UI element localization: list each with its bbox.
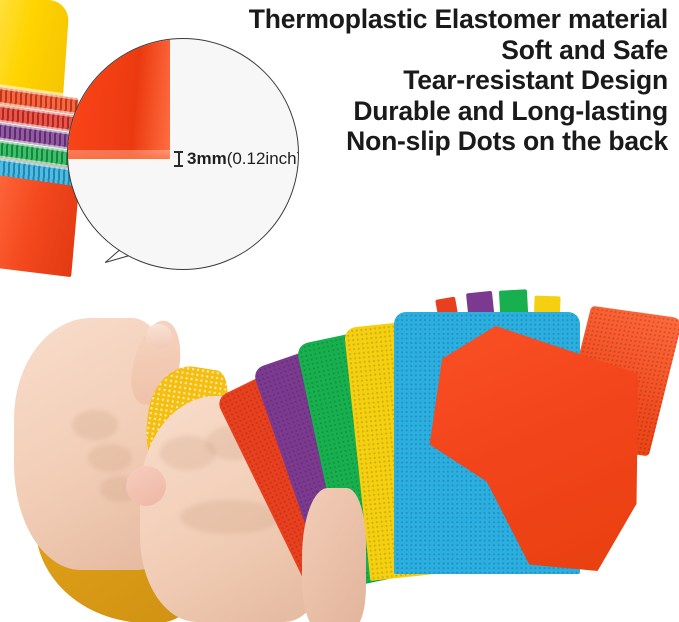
knuckle [88,444,132,472]
feature-line-3: Tear-resistant Design [190,65,668,96]
product-feature-image: 3mm(0.12inch) Thermoplastic Elastomer ma… [0,0,679,622]
feature-line-5: Non-slip Dots on the back [190,126,668,157]
knuckle [72,410,118,440]
feature-line-1: Thermoplastic Elastomer material [190,4,668,35]
knuckle [180,500,280,534]
feature-line-4: Durable and Long-lasting [190,96,668,127]
right-thumb [126,466,166,506]
caliper-stem [178,151,180,167]
caliper-icon [174,151,183,167]
supporting-thumb [302,488,366,622]
fanned-mats-group [312,282,679,622]
feature-line-2: Soft and Safe [190,35,668,66]
callout-mat-sheen [67,38,170,159]
feature-text-block: Thermoplastic Elastomer material Soft an… [190,4,668,157]
